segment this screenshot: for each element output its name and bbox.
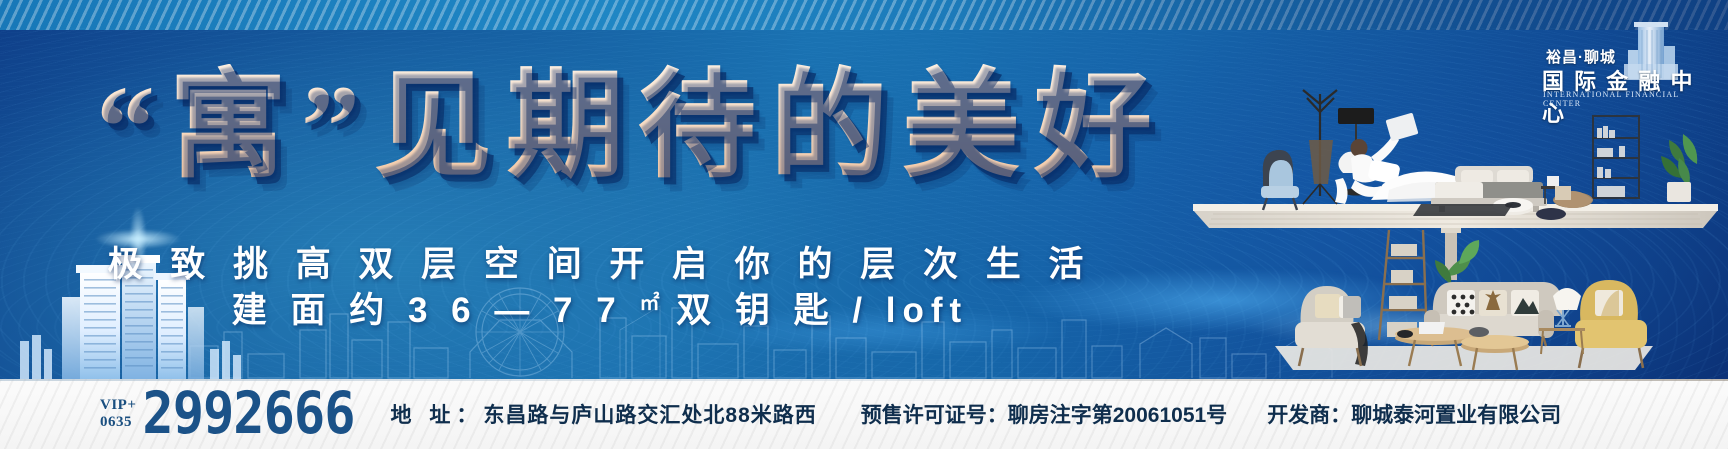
phone-number[interactable]: 2992666 [142, 385, 354, 443]
subtitle-features: 极 致 挑 高 双 层 空 间 开 启 你 的 层 次 生 活 [0, 236, 1200, 287]
plant-icon [1661, 134, 1697, 202]
subtitle-specs: 建 面 约 3 6 — 7 7 ㎡ 双 钥 匙 / loft [0, 282, 1200, 333]
advertisement-banner: “寓”见期待的美好 极 致 挑 高 双 层 空 间 开 启 你 的 层 次 生 … [0, 0, 1728, 449]
vip-prefix: VIP+ 0635 [100, 397, 136, 431]
address-item: 地 址：东昌路与庐山路交汇处北88米路西 [391, 399, 817, 429]
furniture-scene [1183, 78, 1728, 378]
bedroom-scene-icon [1193, 90, 1718, 280]
spec-prefix: 建 面 约 3 6 — 7 7 [232, 291, 640, 330]
license-value: 聊房注字第20061051号 [1008, 404, 1227, 427]
living-room-scene-icon [1275, 230, 1653, 370]
license-item: 预售许可证号：聊房注字第20061051号 [861, 399, 1227, 429]
license-label: 预售许可证号： [861, 404, 1008, 427]
spec-suffix: 双 钥 匙 / loft [659, 291, 968, 330]
armchair-icon [1261, 150, 1299, 210]
vip-phone-block: VIP+ 0635 2992666 [100, 388, 355, 440]
developer-value: 聊城泰河置业有限公司 [1351, 404, 1561, 427]
top-stripe-band [0, 0, 1728, 30]
area-code: 0635 [100, 414, 132, 431]
address-value: 东昌路与庐山路交汇处北88米路西 [483, 404, 816, 427]
vip-label: VIP+ [100, 397, 136, 414]
contact-info-bar: VIP+ 0635 2992666 地 址：东昌路与庐山路交汇处北88米路西 预… [0, 379, 1728, 449]
developer-label: 开发商： [1267, 404, 1351, 427]
spec-unit: ㎡ [639, 292, 659, 314]
page-title: “寓”见期待的美好 [96, 64, 1176, 189]
developer-item: 开发商：聊城泰河置业有限公司 [1267, 399, 1561, 429]
address-label: 地 址： [391, 404, 484, 427]
